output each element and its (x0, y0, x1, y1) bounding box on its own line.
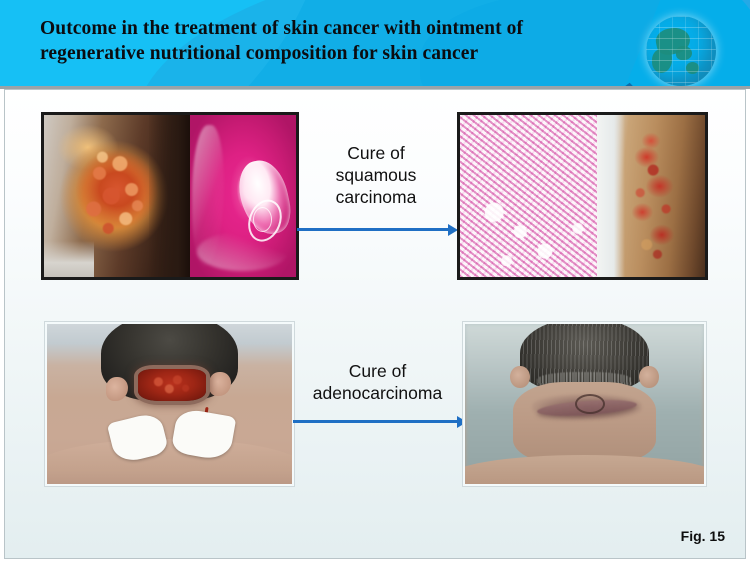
adenocarcinoma-caption: Cure of adenocarcinoma (295, 360, 460, 404)
slide-header: Outcome in the treatment of skin cancer … (0, 0, 750, 86)
surgical-drape (597, 115, 625, 277)
limb-shadow (149, 115, 190, 277)
squamous-carcinoma-before-image (41, 112, 299, 280)
histology-before-surface (190, 115, 296, 277)
patient-ear (639, 366, 658, 388)
keratin-swirl (253, 207, 272, 232)
surgical-drape (44, 241, 94, 277)
globe-graticule (646, 16, 716, 86)
squamous-caption-line-2: squamous (301, 164, 451, 186)
squamous-caption: Cure of squamous carcinoma (301, 142, 451, 208)
page-title-line-1: Outcome in the treatment of skin cancer … (40, 16, 585, 41)
limb-healing-surface (597, 115, 705, 277)
tumour-clinical-photo (44, 115, 190, 277)
squamous-caption-line-3: carcinoma (301, 186, 451, 208)
patient-shoulders (45, 439, 294, 486)
neck-healed-surface (465, 324, 704, 484)
adenocarcinoma-after-image (463, 322, 706, 486)
page-title-line-2: regenerative nutritional composition for… (40, 41, 585, 66)
squamous-carcinoma-after-image (457, 112, 708, 280)
globe-icon (646, 16, 716, 86)
patient-ear (510, 366, 529, 388)
adenocarcinoma-caption-line-1: Cure of (295, 360, 460, 382)
squamous-transition-arrow (297, 228, 449, 231)
ulcer-texture (138, 369, 207, 401)
neck-lesion-surface (47, 324, 292, 484)
histology-after-photo (460, 115, 597, 277)
histology-after-surface (460, 115, 597, 277)
patient-shoulders (463, 455, 706, 486)
tumour-photo-surface (44, 115, 190, 277)
slide-body: Cure of squamous carcinoma (4, 89, 746, 559)
adenocarcinoma-before-image (45, 322, 294, 486)
adenocarcinoma-caption-line-2: adenocarcinoma (295, 382, 460, 404)
adenocarcinoma-transition-arrow (293, 420, 458, 423)
figure-label: Fig. 15 (681, 528, 725, 544)
patient-ear (209, 372, 231, 396)
globe-artwork (590, 0, 750, 86)
slide: Outcome in the treatment of skin cancer … (0, 0, 750, 563)
limb-healing-photo (597, 115, 705, 277)
patient-ear (106, 377, 128, 401)
stroma-band (197, 232, 288, 271)
page-title: Outcome in the treatment of skin cancer … (40, 16, 585, 66)
ulcerated-lesion (138, 369, 207, 401)
squamous-caption-line-1: Cure of (301, 142, 451, 164)
histology-before-photo (190, 115, 296, 277)
